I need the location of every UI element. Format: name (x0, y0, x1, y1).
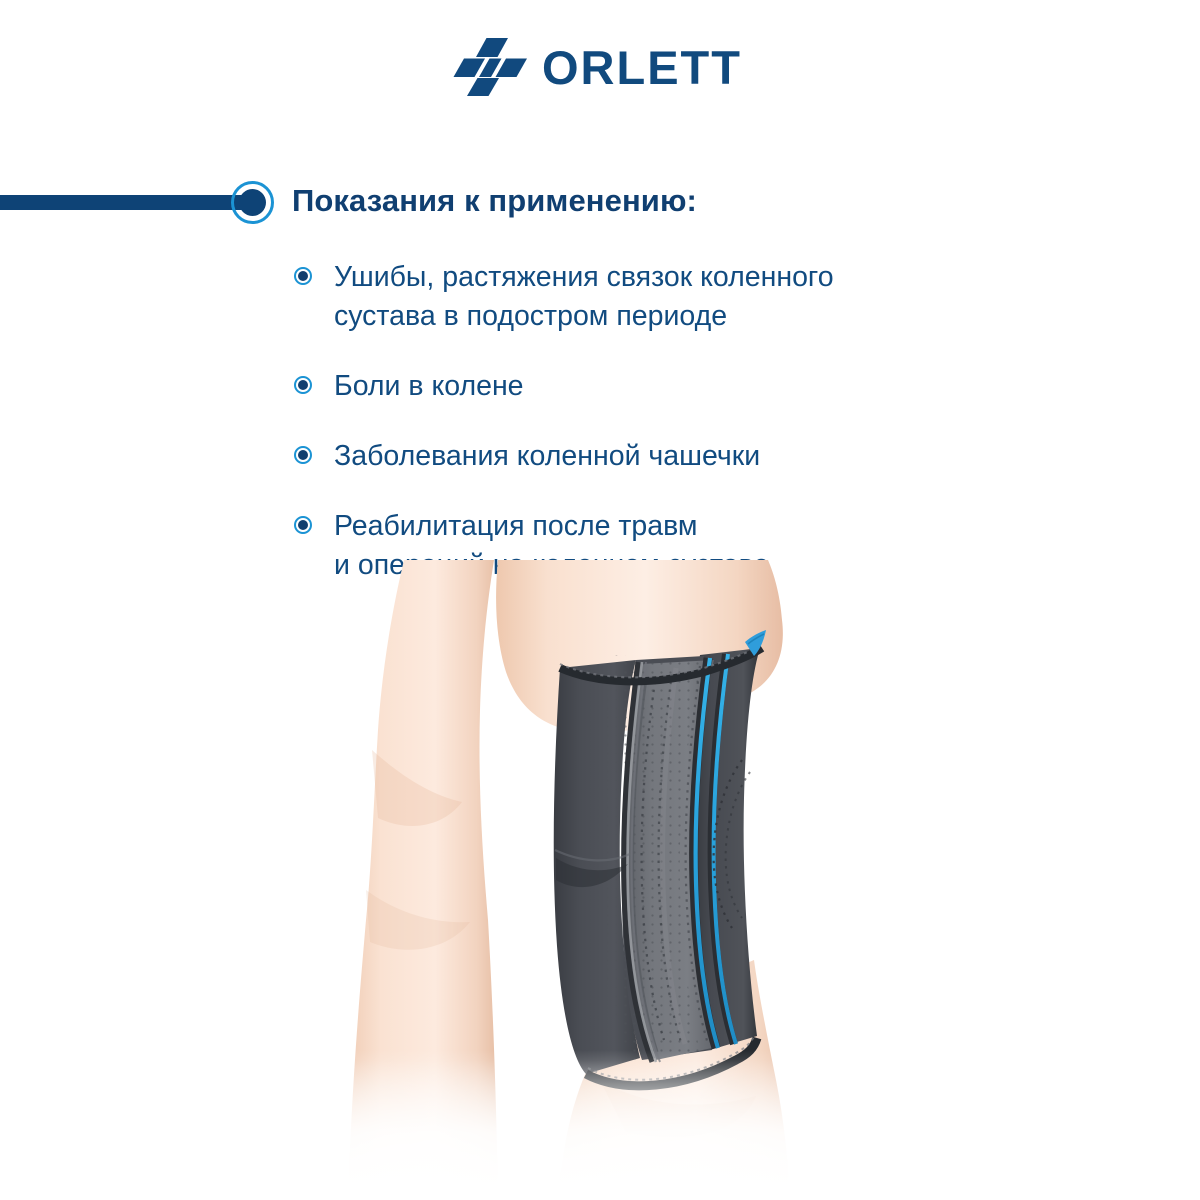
list-item-label: Ушибы, растяжения связок коленного суста… (334, 261, 834, 332)
knee-brace-illustration (0, 560, 1200, 1200)
bullet-dot (298, 520, 308, 530)
list-item-label: Боли в колене (334, 370, 524, 402)
product-info-card: ORLETT Показания к применению: Ушибы, ра… (0, 0, 1200, 1200)
marker-dot (239, 189, 266, 216)
list-item: Ушибы, растяжения связок коленного суста… (294, 258, 1014, 336)
ring-dot-bullet-icon (294, 376, 312, 394)
list-item: Заболевания коленной чашечки (294, 437, 1014, 476)
ring-dot-bullet-icon (294, 516, 312, 534)
orlett-diamond-cross-icon (452, 38, 528, 96)
bullet-dot (298, 380, 308, 390)
brand-wordmark: ORLETT (542, 44, 742, 91)
page-title: Показания к применению: (292, 183, 697, 219)
knee-brace-icon (554, 630, 766, 1086)
indications-list: Ушибы, растяжения связок коленного суста… (294, 258, 1014, 585)
heading-rule (0, 195, 245, 210)
photo-fade (0, 1060, 1200, 1200)
bullet-dot (298, 271, 308, 281)
ring-dot-marker-icon (231, 181, 274, 224)
bullet-dot (298, 450, 308, 460)
product-photo (0, 560, 1200, 1200)
list-item: Боли в колене (294, 367, 1014, 406)
list-item-label: Заболевания коленной чашечки (334, 440, 760, 472)
ring-dot-bullet-icon (294, 267, 312, 285)
brand-logo: ORLETT (452, 36, 762, 98)
ring-dot-bullet-icon (294, 446, 312, 464)
